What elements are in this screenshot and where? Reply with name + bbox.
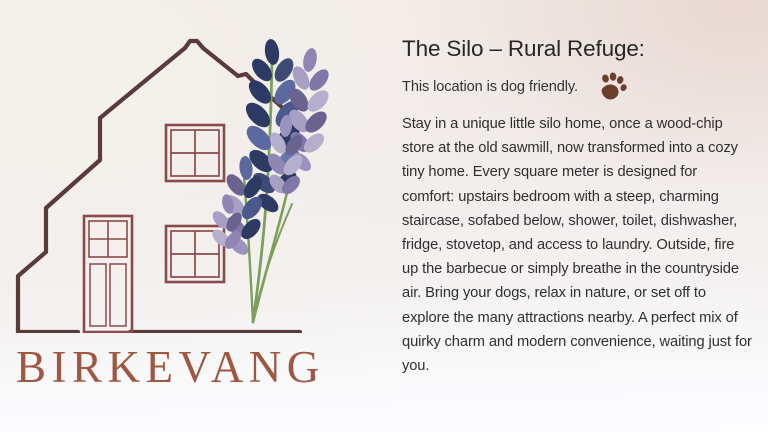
front-door-icon	[84, 216, 132, 332]
dog-friendly-row: This location is dog friendly.	[402, 72, 628, 102]
upper-window-icon	[166, 125, 224, 181]
paw-print-icon	[596, 72, 628, 102]
listing-title: The Silo – Rural Refuge:	[402, 36, 645, 62]
brand-wordmark: BIRKEVANG	[16, 336, 356, 398]
brand-panel: BIRKEVANG	[0, 0, 380, 432]
dog-friendly-note: This location is dog friendly.	[402, 79, 578, 95]
lavender-illustration	[209, 38, 332, 322]
listing-text-panel: The Silo – Rural Refuge: This location i…	[400, 0, 756, 432]
listing-slide: BIRKEVANG The Silo – Rural Refuge: This …	[0, 0, 768, 432]
house-line-drawing	[0, 8, 380, 333]
listing-description: Stay in a unique little silo home, once …	[402, 112, 752, 378]
